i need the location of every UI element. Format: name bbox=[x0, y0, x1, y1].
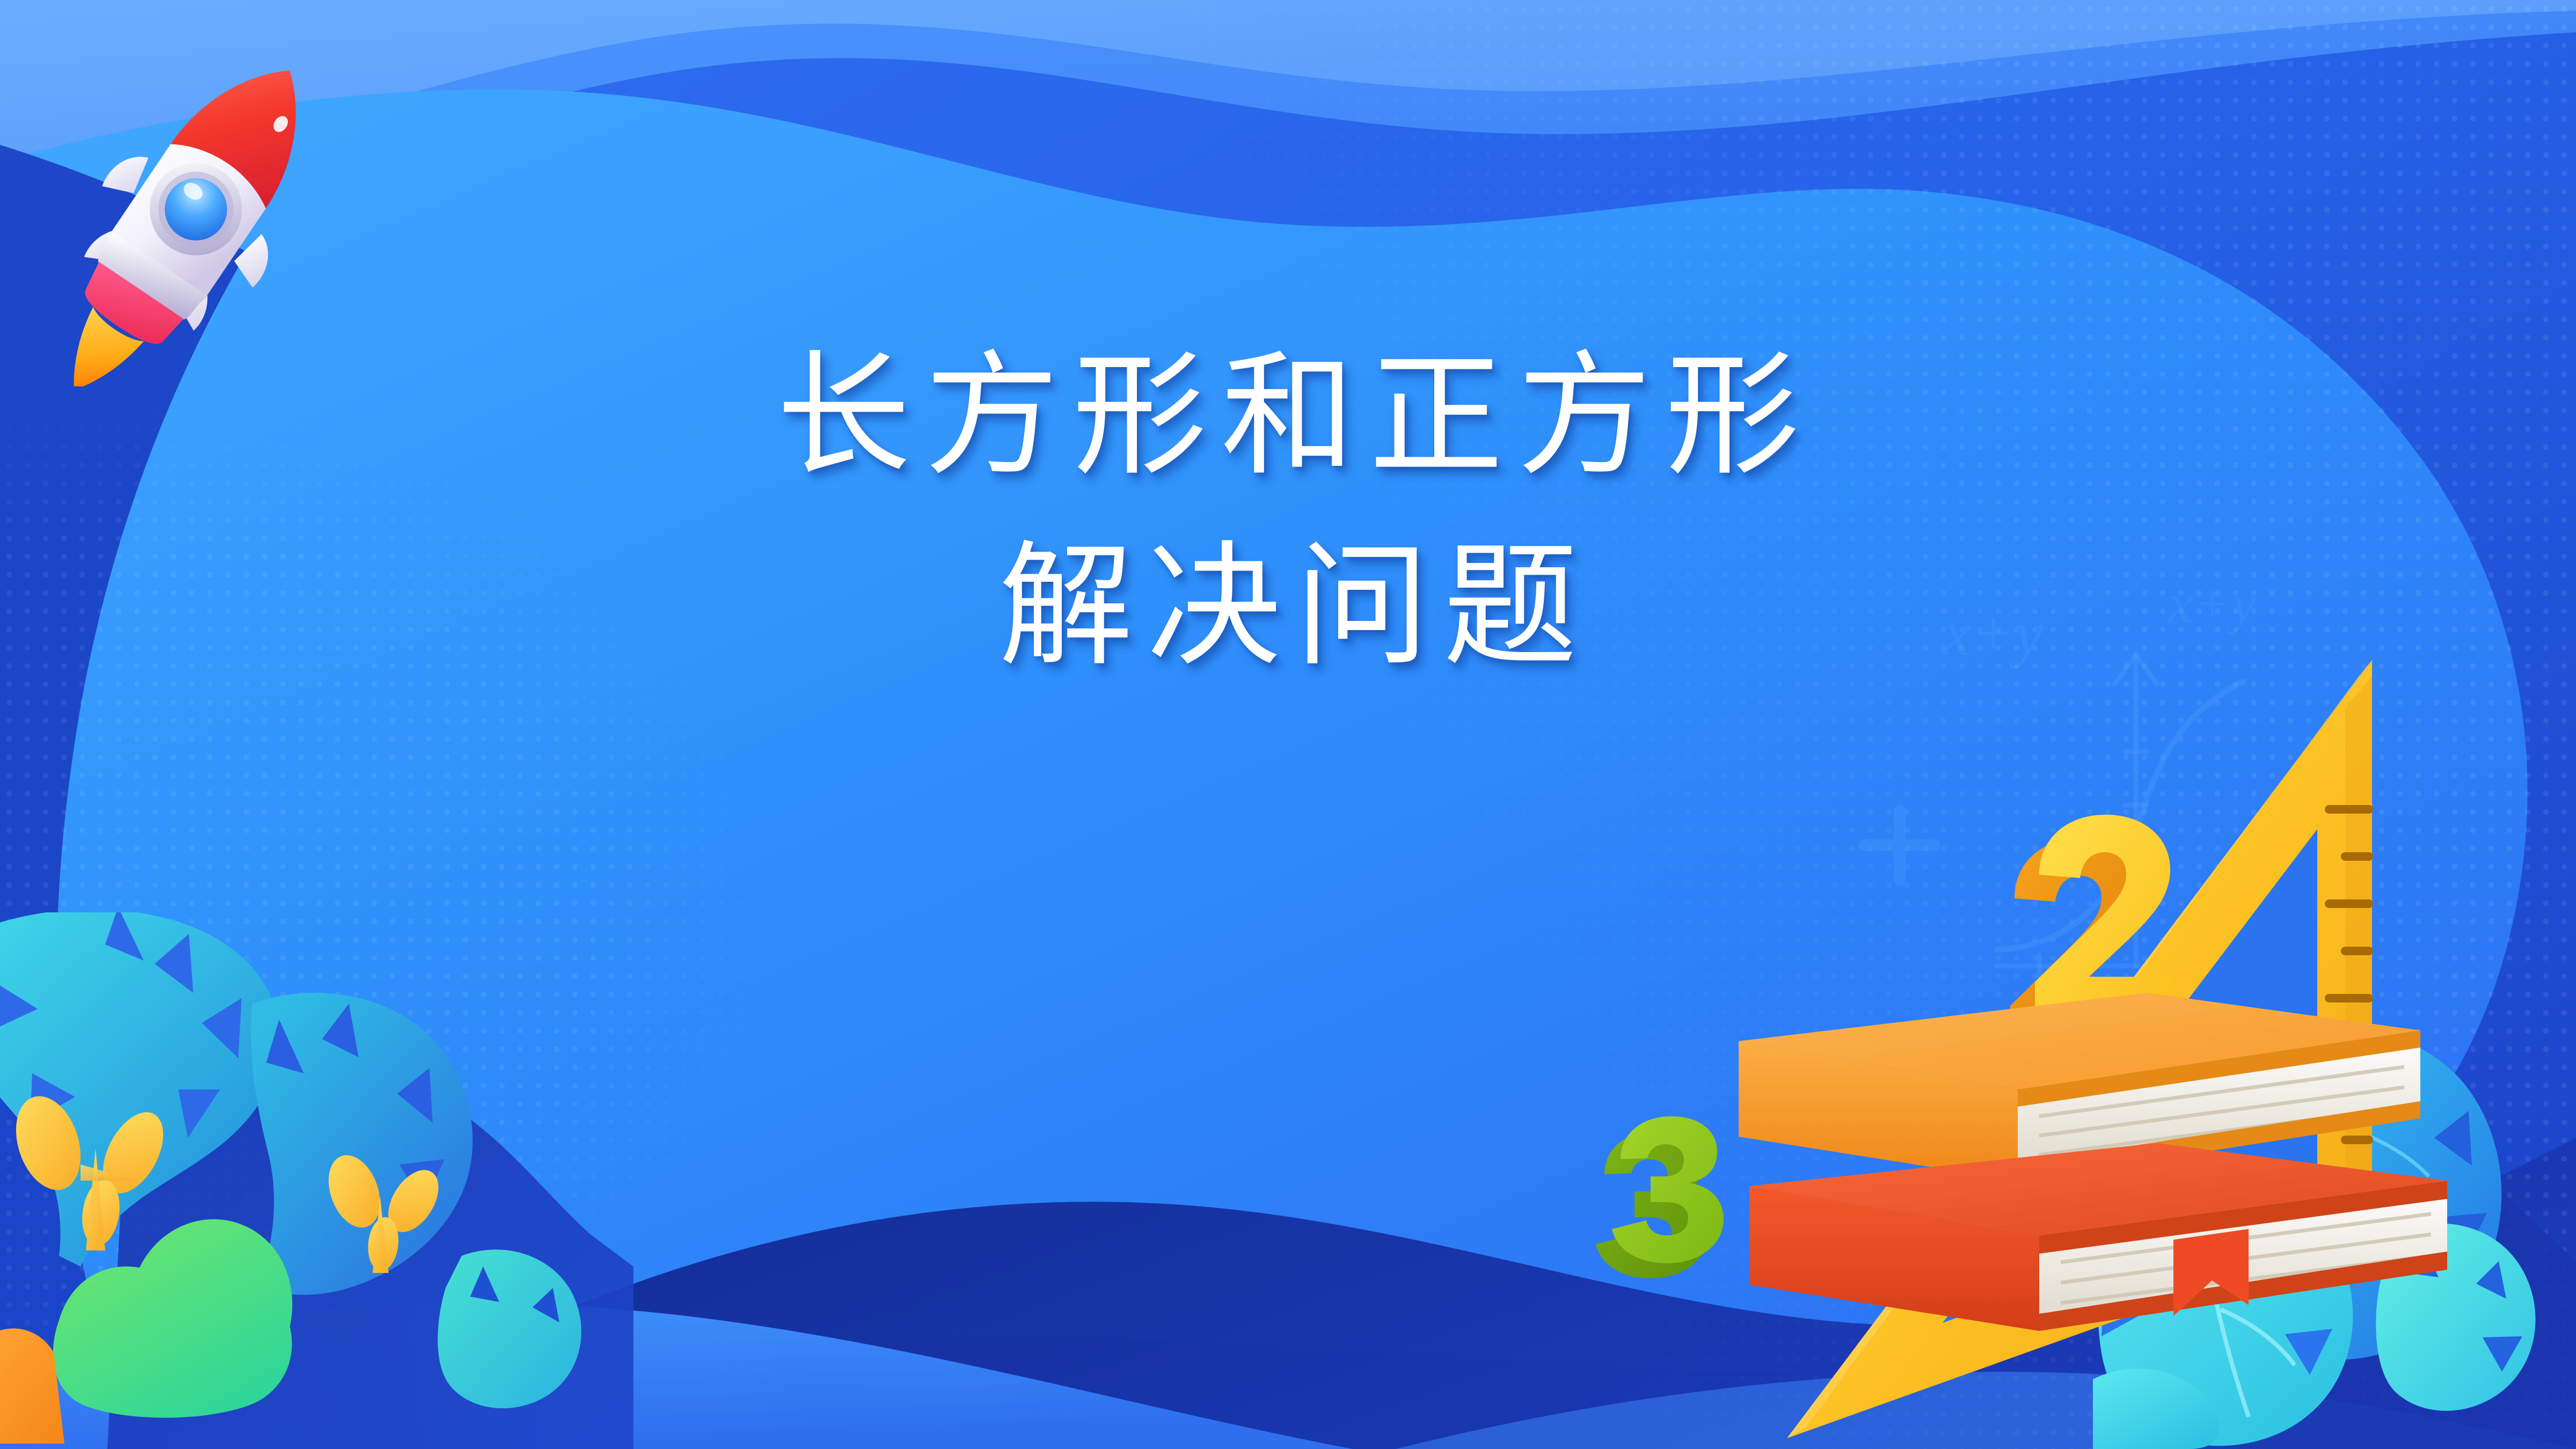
number-three-3d bbox=[1596, 1116, 1724, 1278]
rocket-icon bbox=[70, 32, 322, 386]
tropical-leaves-left bbox=[0, 912, 633, 1449]
study-props-illustration bbox=[1556, 644, 2576, 1449]
book-red bbox=[1749, 1143, 2447, 1331]
presentation-slide: x+y x+y bbox=[0, 0, 2576, 1449]
